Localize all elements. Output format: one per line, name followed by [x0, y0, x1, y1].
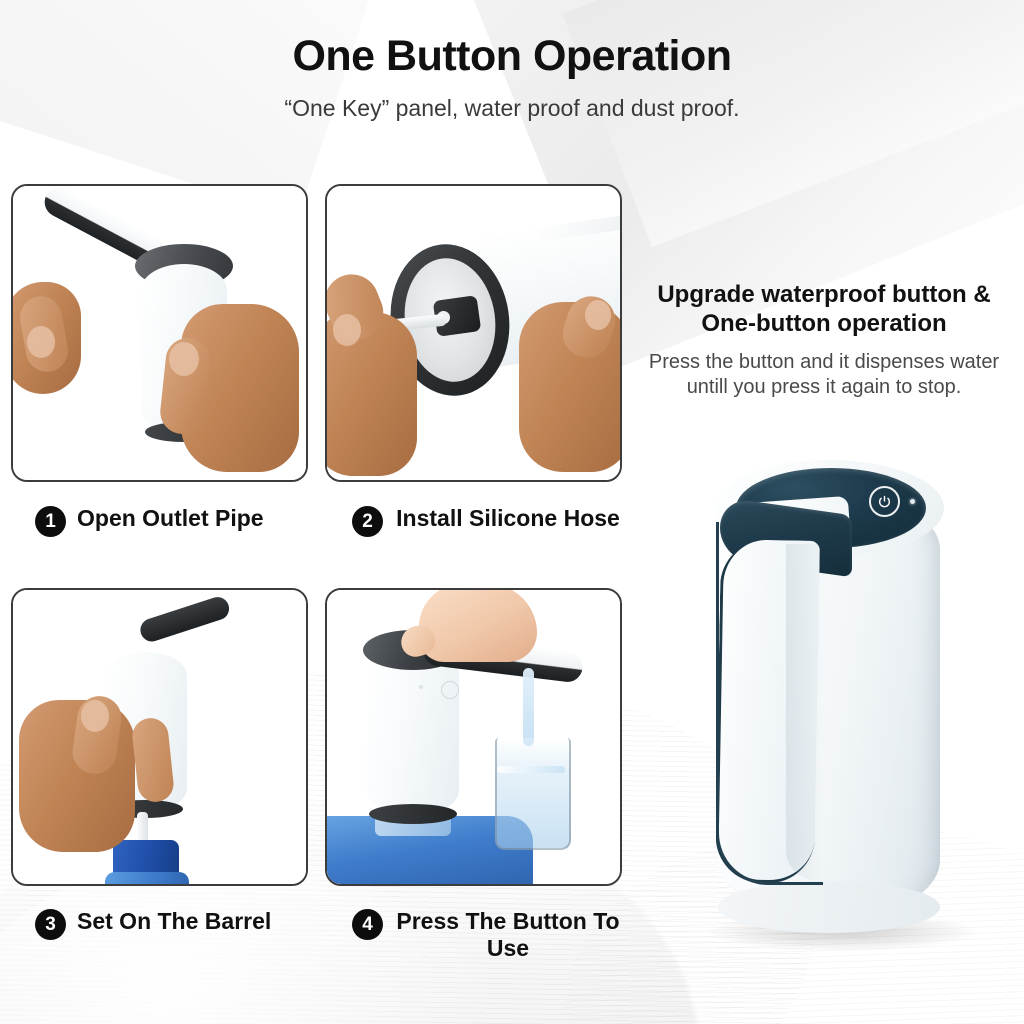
- scene-set-on-the-barrel: [13, 590, 306, 884]
- step-label-1: Open Outlet Pipe: [77, 505, 264, 532]
- step-image-panel-4: [325, 588, 622, 886]
- step-caption-3: 3 Set On The Barrel: [35, 908, 310, 940]
- hero-dispenser-bottom: [718, 881, 940, 933]
- water-stream: [523, 668, 534, 746]
- outlet-pipe-arm: [137, 594, 232, 644]
- step-image-panel-1: [11, 184, 308, 482]
- dispenser-base: [369, 804, 457, 824]
- step-image-panel-3: [11, 588, 308, 886]
- glass-water-surface: [497, 766, 565, 773]
- feature-callout: Upgrade waterproof button & One-button o…: [640, 280, 1008, 400]
- step-caption-4: 4 Press The Button To Use: [352, 908, 622, 962]
- scene-press-the-button: [327, 590, 620, 884]
- page-subtitle: “One Key” panel, water proof and dust pr…: [0, 81, 1024, 122]
- page-title: One Button Operation: [0, 0, 1024, 81]
- fingernail-right: [585, 300, 611, 330]
- hand: [419, 590, 537, 662]
- power-icon: [441, 681, 459, 699]
- drinking-glass: [495, 738, 571, 850]
- product-infographic: One Button Operation “One Key” panel, wa…: [0, 0, 1024, 1024]
- step-badge-1: 1: [35, 506, 66, 537]
- fingernail-left: [333, 314, 361, 346]
- step-badge-3: 3: [35, 909, 66, 940]
- thumbnail-left: [27, 326, 55, 358]
- step-badge-2: 2: [352, 506, 383, 537]
- thumbnail: [81, 700, 109, 732]
- scene-open-outlet-pipe: [13, 186, 306, 480]
- step-label-2: Install Silicone Hose: [394, 505, 622, 532]
- feature-heading: Upgrade waterproof button & One-button o…: [640, 280, 1008, 339]
- step-badge-4: 4: [352, 909, 383, 940]
- water-barrel: [105, 872, 189, 884]
- step-caption-1: 1 Open Outlet Pipe: [35, 505, 310, 537]
- header: One Button Operation “One Key” panel, wa…: [0, 0, 1024, 122]
- step-image-panel-2: [325, 184, 622, 482]
- thumbnail-right: [169, 342, 199, 376]
- led-indicator-icon: [419, 685, 423, 689]
- hero-product-image: [690, 452, 1010, 957]
- feature-description: Press the button and it dispenses water …: [640, 350, 1008, 400]
- dispenser-body: [367, 648, 459, 816]
- hero-arm-shading: [786, 544, 822, 880]
- step-label-3: Set On The Barrel: [77, 908, 271, 935]
- scene-install-silicone-hose: [327, 186, 620, 480]
- barrel-cap: [113, 840, 179, 876]
- step-caption-2: 2 Install Silicone Hose: [352, 505, 622, 537]
- power-icon[interactable]: [869, 486, 900, 517]
- led-indicator-icon: [910, 499, 915, 504]
- step-label-4: Press The Button To Use: [394, 908, 622, 962]
